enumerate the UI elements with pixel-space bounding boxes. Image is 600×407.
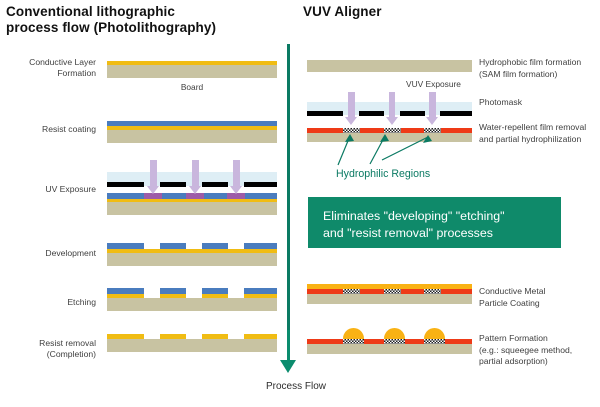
right-column-title: VUV Aligner [303,4,503,20]
row-label-uv-exposure: UV Exposure [0,184,96,195]
vuv-beam-shaft [429,92,436,118]
row-label-development: Development [0,248,96,259]
stack-resist-removal [107,334,277,358]
process-flow-shaft [287,330,290,363]
process-flow-label: Process Flow [246,381,346,392]
uv-beam-shaft [150,160,157,187]
layer-board [307,133,472,142]
process-flow-arrowhead [280,360,296,373]
hydrophilic-regions-annotation: Hydrophilic Regions [336,168,430,180]
layer-board [307,294,472,304]
layer-board [107,339,277,352]
stack-resist-coating [107,121,277,145]
layer-sam-board [307,60,472,72]
stack-etching [107,288,277,314]
layer-board [107,253,277,266]
right-label-metal-particle-coating: Conductive Metal Particle Coating [479,286,599,309]
row-label-resist-coating: Resist coating [0,124,96,135]
diagram-canvas: Conventional lithographic process flow (… [0,0,600,407]
row-label-conductive-layer-formation: Conductive Layer Formation [0,57,96,79]
column-divider [287,44,290,357]
row-label-etching: Etching [0,297,96,308]
photomask-chrome-segment [307,111,343,116]
layer-board [307,344,472,354]
right-label-pattern-formation: Pattern Formation (e.g.: squeegee method… [479,333,599,368]
right-label-water-repellent-removal: Water-repellent film removal and partial… [479,122,599,145]
photomask-chrome-segment [400,111,425,116]
eliminates-callout: Eliminates "developing" "etching" and "r… [308,197,561,248]
left-column-title: Conventional lithographic process flow (… [6,4,284,36]
uv-beam-shaft [192,160,199,187]
right-label-hydrophobic-film: Hydrophobic film formation (SAM film for… [479,57,599,80]
vuv-beam-arrowhead [426,117,438,125]
photomask-chrome-segment [440,111,472,116]
vuv-beam-arrowhead [386,117,398,125]
layer-board [107,65,277,78]
layer-board [107,298,277,311]
stack-metal-particle-coating [307,284,472,310]
board-caption: Board [107,82,277,93]
right-label-photomask: Photomask [479,97,599,109]
vuv-beam-arrowhead [345,117,357,125]
row-label-resist-removal: Resist removal (Completion) [0,338,96,360]
uv-beam-shaft [233,160,240,187]
photomask-chrome-segment [202,182,228,187]
stack-hydrophobic-film [307,60,472,74]
stack-development [107,243,277,269]
photomask-chrome-segment [160,182,186,187]
layer-board [107,202,277,215]
layer-board [107,130,277,143]
uv-beam-arrowhead [230,186,242,194]
vuv-exposure-caption: VUV Exposure [406,79,496,90]
stack-uv-exposure [107,160,277,210]
photomask-chrome-segment [244,182,277,187]
stack-conductive-layer-formation [107,61,277,80]
photomask-chrome-segment [359,111,384,116]
uv-beam-arrowhead [147,186,159,194]
stack-vuv-exposure [307,92,472,144]
vuv-beam-shaft [348,92,355,118]
vuv-beam-shaft [389,92,396,118]
stack-pattern-formation [307,328,472,358]
photomask-chrome-segment [107,182,144,187]
uv-beam-arrowhead [189,186,201,194]
